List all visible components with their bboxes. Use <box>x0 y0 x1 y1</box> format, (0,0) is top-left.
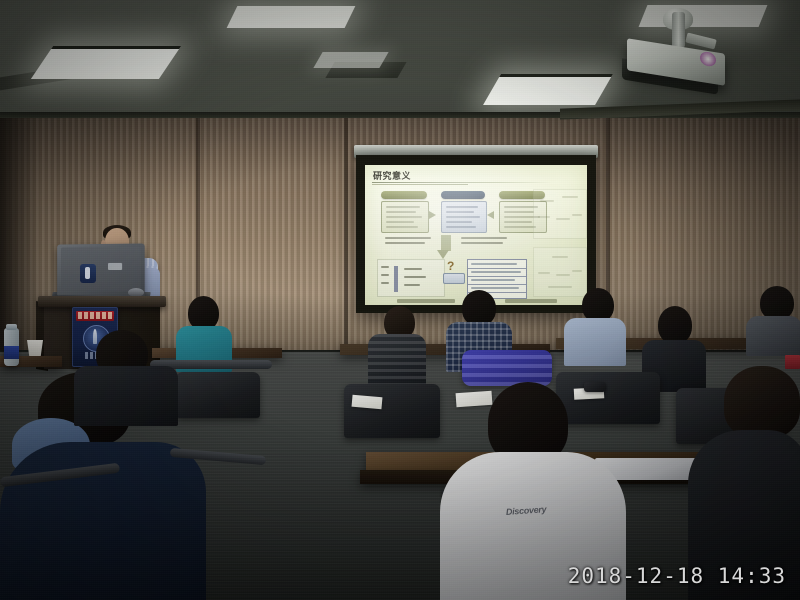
ceiling-light <box>639 5 768 27</box>
slide-right-diagram-top <box>533 189 587 239</box>
blue-puffy-jacket <box>462 350 552 386</box>
flow-box-header-2 <box>441 191 485 199</box>
ceiling-light <box>227 6 356 28</box>
smartphone-dark <box>584 382 606 392</box>
water-bottle-label <box>4 346 19 359</box>
camera-timestamp: 2018-12-18 14:33 <box>568 564 786 588</box>
ceiling-light <box>31 46 181 79</box>
chair <box>556 372 660 424</box>
flow-box-body-2 <box>441 201 487 233</box>
ceiling-light <box>483 74 613 105</box>
water-bottle-cap <box>6 324 17 330</box>
ceiling-light <box>313 52 388 68</box>
laptop-screen-back <box>61 247 141 292</box>
photograph: 研究意义 <box>0 0 800 600</box>
desk-device <box>80 264 96 283</box>
red-cup <box>785 355 800 369</box>
slide-small-box <box>443 273 465 284</box>
flow-box-header-1 <box>381 191 427 199</box>
flow-arrow-right <box>429 211 436 219</box>
slide-title-rule <box>372 182 552 183</box>
papers-on-desk <box>352 395 383 410</box>
projected-slide: 研究意义 <box>365 165 587 305</box>
slide-right-diagram-bottom <box>533 247 587 297</box>
podium-top <box>38 296 166 307</box>
slide-bottom-label-left <box>397 299 455 303</box>
down-arrow-stem <box>441 235 451 251</box>
down-arrow-head <box>437 250 449 259</box>
paper-cup <box>27 340 43 356</box>
emblem-figure <box>93 329 97 344</box>
flow-arrow-left <box>487 211 494 219</box>
chair <box>344 384 440 438</box>
slide-chart-panel <box>377 259 445 297</box>
laptop-badge <box>108 263 122 270</box>
slide-title-rule <box>372 184 468 185</box>
chair <box>176 372 260 418</box>
projector-mount-pole <box>672 12 685 48</box>
slide-bottom-label-right <box>505 299 557 303</box>
question-mark: ? <box>447 259 454 273</box>
papers-on-desk <box>456 391 493 407</box>
slide-title: 研究意义 <box>373 169 411 182</box>
flow-box-body-1 <box>381 201 429 233</box>
emblem-banner-text <box>78 312 112 319</box>
